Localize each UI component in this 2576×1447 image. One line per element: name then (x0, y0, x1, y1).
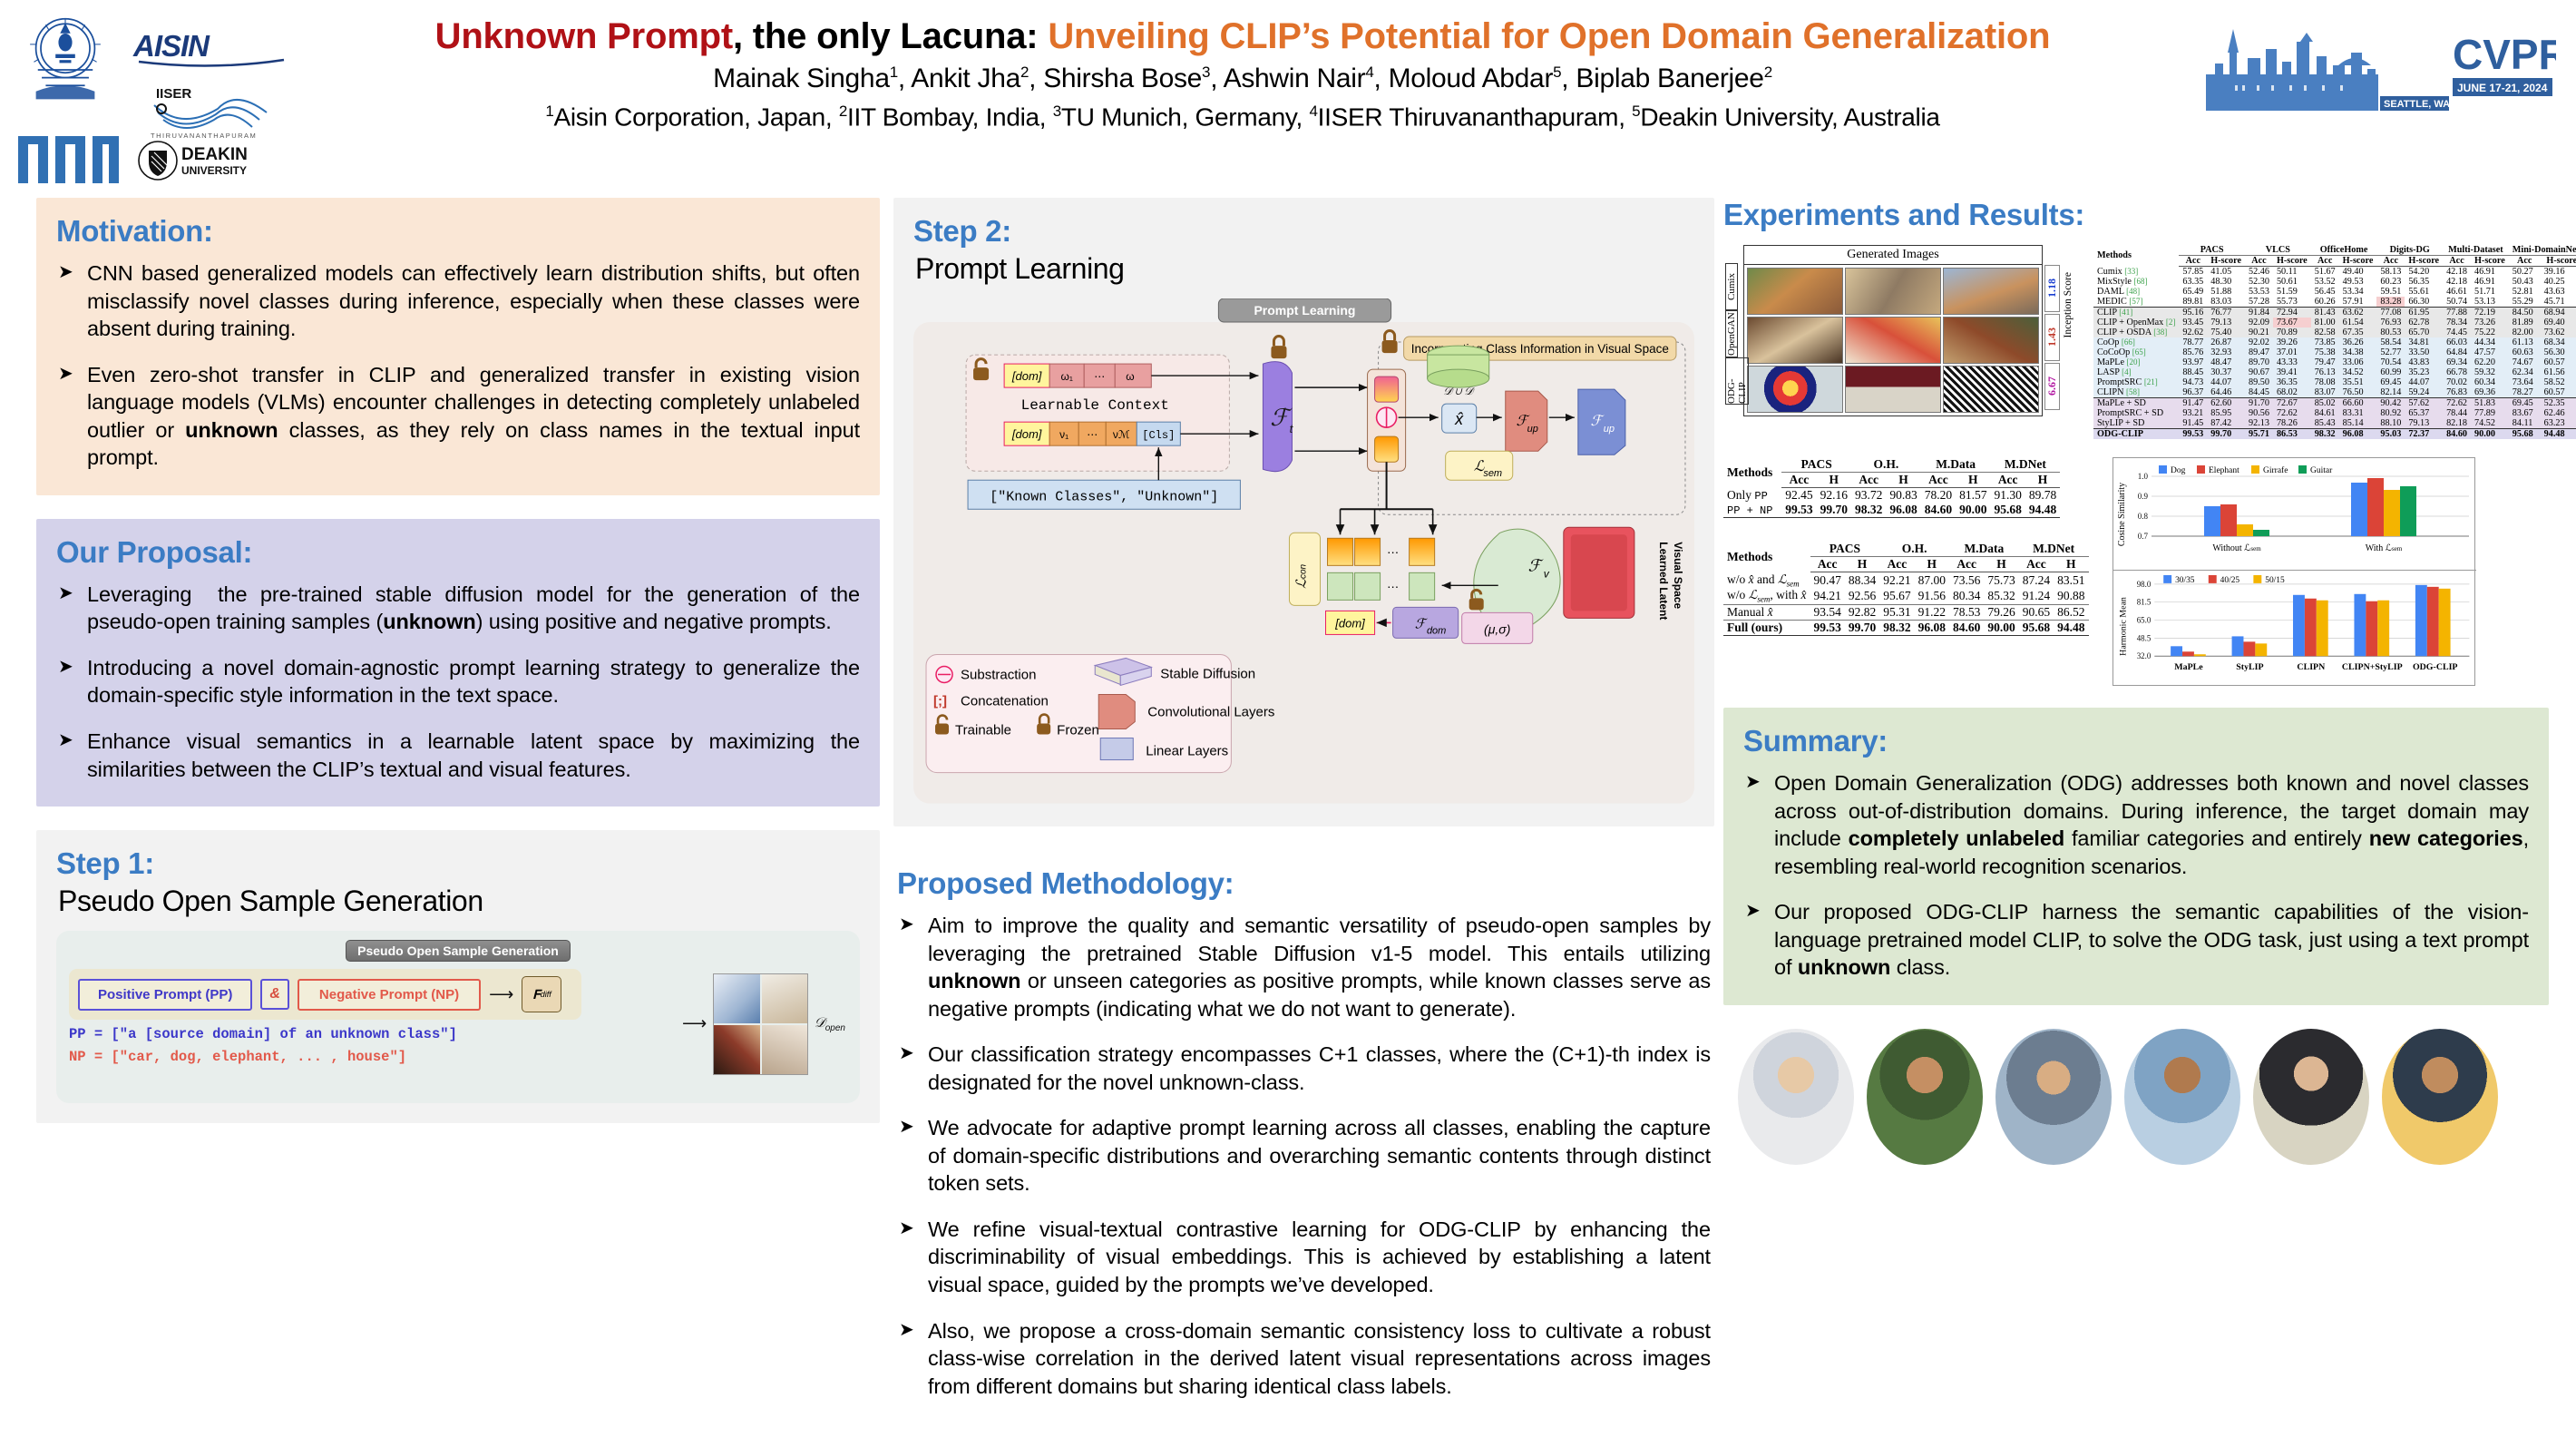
chart2-group-clipn-stylip (2354, 594, 2389, 656)
table-row: StyLIP + SD91.4587.4292.1378.2685.4385.1… (2093, 418, 2576, 429)
class-input-label: ["Known Classes", "Unknown"] (990, 489, 1218, 504)
col-group-officehome: OfficeHome (2311, 245, 2377, 256)
generated-images-figure: Generated Images (1743, 245, 2043, 416)
step1-panel: Step 1: Pseudo Open Sample Generation Ps… (36, 830, 880, 1123)
svg-text:Substraction: Substraction (961, 667, 1036, 682)
list-item: Introducing a novel domain-agnostic prom… (56, 654, 860, 709)
methodology-heading: Proposed Methodology: (897, 866, 1711, 901)
inception-score-axis-label: Inception Score (2063, 272, 2073, 338)
middle-column: Step 2: Prompt Learning (893, 198, 1714, 1447)
chart2-group-stylip (2231, 636, 2267, 656)
svg-text:up: up (1527, 424, 1538, 435)
svg-text:Dog: Dog (2171, 466, 2186, 475)
svg-text:⋯: ⋯ (1087, 428, 1098, 441)
avatar (1738, 1029, 1854, 1165)
svg-text:𝒟 ∪ 𝒟: 𝒟 ∪ 𝒟 (1443, 385, 1475, 397)
left-column: Motivation: CNN based generalized models… (36, 198, 880, 1147)
svg-text:Convolutional Layers: Convolutional Layers (1147, 705, 1274, 720)
positive-prompt-box: Positive Prompt (PP) (78, 979, 252, 1011)
svg-text:Guitar: Guitar (2310, 466, 2333, 475)
svg-text:48.5: 48.5 (2136, 633, 2151, 642)
svg-text:50/15: 50/15 (2265, 576, 2285, 585)
svg-text:65.0: 65.0 (2136, 616, 2151, 625)
proposal-heading: Our Proposal: (56, 535, 860, 570)
col-group-minidomainnet: Mini-DomainNet (2509, 245, 2576, 256)
negative-prompt-box: Negative Prompt (NP) (298, 979, 481, 1011)
table-row: CLIPN [58]96.3764.4684.4568.0283.0776.50… (2093, 387, 2576, 398)
methodology-panel: Proposed Methodology: Aim to improve the… (893, 850, 1714, 1423)
generated-images-grid (1744, 265, 2042, 416)
ablation1-methods-header: Methods (1723, 457, 1781, 488)
summary-panel: Summary: Open Domain Generalization (ODG… (1723, 708, 2549, 1005)
svg-text:1.0: 1.0 (2137, 472, 2148, 481)
token-row-omega: [dom] ω₁ ⋯ ω (1004, 364, 1151, 387)
step2-figure-chip-label: Prompt Learning (1254, 303, 1355, 318)
experiments-top-row: Generated Images Cumix OpenGAN ODG-CLIP (1723, 245, 2549, 439)
col-group-pacs: PACS (2179, 245, 2245, 256)
list-item: We advocate for adaptive prompt learning… (897, 1114, 1711, 1198)
harmonic-mean-chart: Harmonic Mean 98.0 81.5 65.0 48.5 32.0 3… (2113, 570, 2476, 680)
tum-logo (16, 132, 121, 187)
svg-text:[dom]: [dom] (1334, 616, 1365, 630)
cvpr-location: SEATTLE, WA (2384, 99, 2450, 110)
chart1-gridlines (2152, 476, 2469, 516)
chart2-legend: 30/35 40/25 50/15 (2163, 575, 2285, 585)
cvpr-dates: JUNE 17-21, 2024 (2457, 82, 2548, 94)
svg-text:νℳ: νℳ (1113, 428, 1130, 441)
inception-score-opengan: 1.43 (2044, 314, 2060, 361)
title-colon: : (1026, 16, 1048, 56)
title-part-unveiling: Unveiling CLIP’s Potential for Open Doma… (1048, 16, 2050, 56)
inception-score-cumix: 1.18 (2044, 265, 2060, 312)
svg-text:With ℒsem: With ℒsem (2365, 543, 2402, 553)
svg-text:MaPLe: MaPLe (2174, 662, 2203, 672)
diffusion-model-icon: 𝐅diff (522, 976, 561, 1012)
list-item: Our classification strategy encompasses … (897, 1041, 1711, 1096)
row-label-cumix: Cumix (1725, 263, 1738, 310)
list-item: Also, we propose a cross-domain semantic… (897, 1317, 1711, 1401)
charts-panel: Cosine Similarity 1.0 0.9 0.8 0.7 Dog El… (2113, 457, 2475, 686)
deakin-university-logo: DEAKIN UNIVERSITY (136, 134, 268, 187)
table-row: CoOp [66]78.7726.8792.0239.2673.8536.265… (2093, 337, 2576, 347)
avatar (2382, 1029, 2498, 1165)
svg-text:ω₁: ω₁ (1060, 370, 1072, 383)
chart1-group-with (2351, 478, 2416, 536)
svg-text:Stable Diffusion: Stable Diffusion (1160, 666, 1255, 681)
right-column: Experiments and Results: Generated Image… (1723, 198, 2549, 1165)
table-row: w/o x̂ and ℒsem90.4788.3492.2187.0073.56… (1723, 572, 2089, 589)
inception-score-column: 1.18 1.43 6.67 (2044, 265, 2064, 412)
poster-header: AISIN IISER THIRUVANANTHAPURAM (0, 0, 2576, 186)
svg-text:sem: sem (1483, 468, 1502, 479)
table-row: CLIP [41]95.1676.7791.8472.9481.4363.627… (2093, 308, 2576, 318)
table-row: PromptSRC [21]94.7344.0789.5036.3578.083… (2093, 377, 2576, 387)
methodology-bullet-list: Aim to improve the quality and semantic … (897, 912, 1711, 1400)
page-title: Unknown Prompt, the only Lacuna: Unveili… (299, 16, 2186, 57)
table-row: CLIP + OpenMax [2]93.4579.1392.0973.6781… (2093, 318, 2576, 328)
prompt-row: Positive Prompt (PP) & Negative Prompt (… (69, 969, 581, 1020)
row-label-odgclip: ODG-CLIP (1725, 357, 1749, 405)
avatar (1995, 1029, 2112, 1165)
svg-text:[dom]: [dom] (1011, 369, 1042, 383)
step2-architecture-figure: Prompt Learning [dom] ω₁ ⋯ ω (913, 298, 1694, 807)
svg-text:30/35: 30/35 (2175, 576, 2195, 585)
table-row: CoCoOp [65]85.7632.9389.4737.0175.3834.3… (2093, 347, 2576, 357)
svg-text:CLIPN: CLIPN (2297, 662, 2326, 672)
inception-score-odgclip: 6.67 (2044, 363, 2060, 410)
svg-text:CLIPN+StyLIP: CLIPN+StyLIP (2341, 662, 2402, 672)
chart1-legend: Dog Elephant Girrafe Guitar (2159, 465, 2333, 475)
svg-text:ν₁: ν₁ (1059, 428, 1068, 441)
step1-heading: Step 1: (56, 846, 860, 881)
table-row: DAML [48]65.4951.8853.5351.5956.4553.345… (2093, 287, 2576, 297)
chart1-group-without (2204, 504, 2269, 536)
svg-text:up: up (1604, 424, 1615, 435)
affiliation-list: 1Aisin Corporation, Japan, 2IIT Bombay, … (299, 103, 2186, 132)
avatar (1867, 1029, 1983, 1165)
ablation-tables-group: Methods PACSO.H. M.DataM.DNet AccHAccHAc… (1723, 457, 2089, 636)
svg-text:32.0: 32.0 (2136, 651, 2151, 660)
architecture-diagram: Prompt Learning [dom] ω₁ ⋯ ω (913, 298, 1694, 807)
experiments-mid-row: Methods PACSO.H. M.DataM.DNet AccHAccHAc… (1723, 457, 2549, 686)
arrow-right-icon: ⟶ (489, 984, 513, 1005)
step1-figure: Pseudo Open Sample Generation Positive P… (56, 931, 860, 1103)
generated-sample-thumbnails (713, 973, 808, 1075)
learned-latent-label: Learned Latent (1657, 542, 1670, 620)
ablation-table-components: Methods PACSO.H. M.DataM.DNet AccHAccHAc… (1723, 542, 2089, 636)
chart2-ylabel: Harmonic Mean (2118, 597, 2128, 656)
table-row: w/o ℒsem, with x̂94.2192.5695.6791.5680.… (1723, 588, 2089, 604)
avatar (2124, 1029, 2240, 1165)
svg-text:ODG-CLIP: ODG-CLIP (2412, 662, 2457, 672)
generated-output-group: ⟶ 𝒟open (682, 967, 845, 1080)
table-row: PromptSRC + SD93.2185.9590.5672.6284.618… (2093, 408, 2576, 418)
table-row: PP + NP99.5399.7098.3296.0884.6090.0095.… (1723, 503, 2060, 518)
dopen-label: 𝒟open (815, 1015, 845, 1033)
summary-bullet-list: Open Domain Generalization (ODG) address… (1743, 769, 2529, 982)
svg-text:0.8: 0.8 (2137, 512, 2148, 521)
svg-text:Linear Layers: Linear Layers (1146, 744, 1228, 759)
main-results-body: Cumix [33]57.8541.0552.4650.1151.6749.40… (2093, 267, 2576, 440)
iit-bombay-logo (16, 9, 114, 107)
table-row: MixStyle [68]63.3548.3052.3050.6153.5249… (2093, 277, 2576, 287)
ablation2-methods-header: Methods (1723, 542, 1810, 572)
title-block: Unknown Prompt, the only Lacuna: Unveili… (299, 16, 2186, 132)
list-item: Aim to improve the quality and semantic … (897, 912, 1711, 1022)
chart1-ylabel: Cosine Similarity (2117, 483, 2127, 546)
svg-text:Elephant: Elephant (2209, 466, 2239, 475)
logo-cluster-left: AISIN IISER THIRUVANANTHAPURAM (9, 7, 299, 184)
title-part-lacuna: , the only Lacuna (733, 16, 1026, 56)
table-row: Only PP92.4592.1693.7290.8378.2081.5791.… (1723, 488, 2060, 504)
svg-text:[Cls]: [Cls] (1142, 429, 1175, 442)
step2-heading: Step 2: (913, 214, 1694, 249)
svg-text:IISER: IISER (156, 86, 191, 102)
svg-text:[dom]: [dom] (1011, 427, 1042, 441)
proposal-panel: Our Proposal: Leveraging the pre-trained… (36, 519, 880, 807)
figure-chip: Prompt Learning (1218, 298, 1390, 322)
title-part-unknown-prompt: Unknown Prompt (435, 16, 733, 56)
svg-text:Concatenation: Concatenation (961, 694, 1049, 709)
table-row: MEDIC [57]89.8183.0357.2855.7360.2657.91… (2093, 297, 2576, 308)
ampersand-box: & (260, 979, 289, 1010)
chart2-group-maple (2171, 646, 2206, 656)
step2-subheading: Prompt Learning (915, 252, 1694, 286)
col-group-vlcs: VLCS (2245, 245, 2311, 256)
sub-acc: Acc (2179, 256, 2207, 267)
cvpr-2024-logo: SEATTLE, WA CVPR JUNE 17-21, 2024 (2202, 18, 2556, 118)
svg-text:AISIN: AISIN (132, 29, 210, 63)
table-group-header-row: Methods PACS VLCS OfficeHome Digits-DG M… (2093, 245, 2576, 256)
chart2-group-odgclip (2415, 585, 2450, 656)
avatar (2253, 1029, 2369, 1165)
token-row-nu: [dom] ν₁ ⋯ νℳ [Cls] (1004, 422, 1180, 445)
table-row: Manual x̂93.5492.8295.3191.2278.5379.269… (1723, 604, 2089, 620)
list-item: CNN based generalized models can effecti… (56, 259, 860, 343)
chart2-group-clipn (2293, 595, 2328, 656)
table-row: MaPLe + SD91.4762.6091.7072.6785.0266.60… (2093, 398, 2576, 409)
iiser-thiruvananthapuram-logo: IISER THIRUVANANTHAPURAM (143, 78, 279, 142)
main-results-table: Methods PACS VLCS OfficeHome Digits-DG M… (2093, 245, 2576, 439)
svg-text:0.7: 0.7 (2137, 532, 2148, 541)
svg-text:ω: ω (1126, 370, 1140, 383)
aisin-logo: AISIN (132, 25, 290, 71)
svg-text:98.0: 98.0 (2136, 580, 2151, 589)
chart2-xticks: MaPLe StyLIP CLIPN CLIPN+StyLIP ODG-CLIP (2174, 662, 2457, 672)
generated-images-title: Generated Images (1744, 246, 2042, 265)
list-item: Enhance visual semantics in a learnable … (56, 728, 860, 783)
svg-text:Trainable: Trainable (955, 723, 1011, 738)
svg-text:0.9: 0.9 (2137, 492, 2148, 501)
ablation-table-prompts: Methods PACSO.H. M.DataM.DNet AccHAccHAc… (1723, 457, 2060, 518)
svg-text:40/25: 40/25 (2220, 576, 2239, 585)
svg-text:[;]: [;] (933, 694, 947, 709)
motivation-heading: Motivation: (56, 214, 860, 249)
svg-text:81.5: 81.5 (2136, 598, 2151, 607)
cvpr-wordmark: CVPR (2453, 31, 2556, 78)
svg-text:StyLIP: StyLIP (2236, 662, 2263, 672)
svg-text:Frozen: Frozen (1057, 723, 1099, 738)
summary-heading: Summary: (1743, 724, 2529, 758)
svg-text:Girrafe: Girrafe (2263, 465, 2288, 475)
motivation-panel: Motivation: CNN based generalized models… (36, 198, 880, 495)
author-list: Mainak Singha1, Ankit Jha2, Shirsha Bose… (299, 64, 2186, 94)
svg-text:⋯: ⋯ (1387, 545, 1399, 559)
svg-text:⋯: ⋯ (1094, 370, 1105, 383)
svg-text:(μ,σ): (μ,σ) (1484, 621, 1510, 636)
svg-text:x̂: x̂ (1454, 410, 1464, 428)
col-group-digitsdg: Digits-DG (2376, 245, 2443, 256)
list-item: Leveraging the pre-trained stable diffus… (56, 581, 860, 636)
col-methods: Methods (2093, 245, 2179, 267)
table-row: CLIP + OSDA [38]92.6275.4090.2170.8982.5… (2093, 328, 2576, 337)
svg-text:Without ℒsem: Without ℒsem (2212, 543, 2261, 553)
cosine-similarity-chart: Cosine Similarity 1.0 0.9 0.8 0.7 Dog El… (2113, 458, 2476, 565)
table-row: Cumix [33]57.8541.0552.4650.1151.6749.40… (2093, 267, 2576, 278)
svg-text:Visual Space: Visual Space (1672, 542, 1684, 609)
svg-text:UNIVERSITY: UNIVERSITY (181, 164, 247, 177)
table-row: LASP [4]88.4530.3790.6739.4176.1334.5260… (2093, 367, 2576, 377)
chart1-xticks: Without ℒsem With ℒsem (2212, 543, 2403, 553)
svg-text:⋯: ⋯ (1387, 580, 1399, 593)
row-label-opengan: OpenGAN (1725, 310, 1738, 357)
table-row: MaPLe [20]93.9748.4789.7043.3379.4733.06… (2093, 357, 2576, 367)
proposal-bullet-list: Leveraging the pre-trained stable diffus… (56, 581, 860, 783)
sub-h: H-score (2207, 256, 2245, 267)
list-item: Even zero-shot transfer in CLIP and gene… (56, 361, 860, 472)
svg-text:dom: dom (1427, 625, 1446, 636)
arrow-right-icon-2: ⟶ (682, 1013, 707, 1034)
step2-panel: Step 2: Prompt Learning (893, 198, 1714, 826)
list-item: Our proposed ODG-CLIP harness the semant… (1743, 898, 2529, 982)
table-row: Full (ours)99.5399.7098.3296.0884.6090.0… (1723, 620, 2089, 635)
step1-subheading: Pseudo Open Sample Generation (58, 885, 860, 918)
svg-text:v: v (1544, 567, 1550, 580)
experiments-heading: Experiments and Results: (1723, 198, 2549, 232)
step1-figure-chip: Pseudo Open Sample Generation (346, 940, 571, 962)
table-row: ODG-CLIP99.5399.7095.7186.5398.3296.0895… (2093, 429, 2576, 440)
list-item: Open Domain Generalization (ODG) address… (1743, 769, 2529, 880)
author-photos-row (1723, 1029, 2549, 1165)
motivation-bullet-list: CNN based generalized models can effecti… (56, 259, 860, 472)
generated-images-row-labels: Cumix OpenGAN ODG-CLIP (1725, 263, 1742, 399)
chart2-yticks: 98.0 81.5 65.0 48.5 32.0 (2136, 580, 2151, 660)
chart1-yticks: 1.0 0.9 0.8 0.7 (2137, 472, 2148, 541)
svg-text:DEAKIN: DEAKIN (181, 145, 248, 164)
learnable-context-label: Learnable Context (1021, 397, 1169, 414)
col-group-multidataset: Multi-Dataset (2443, 245, 2509, 256)
